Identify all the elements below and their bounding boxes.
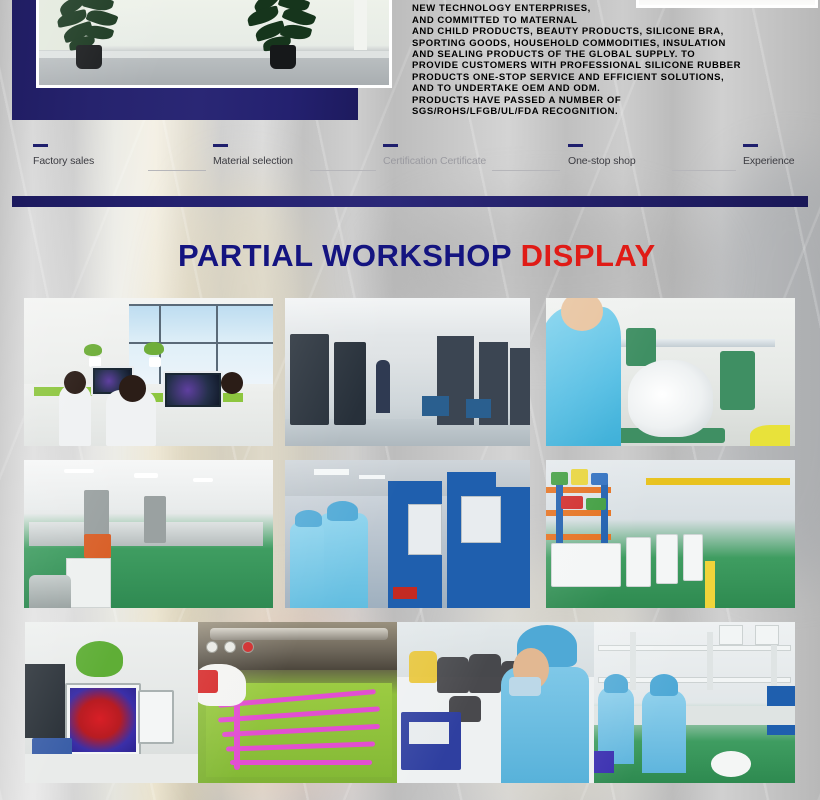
hero-description: SILICONE RUBBER PRODUCTS OF NEW TECHNOLO…: [412, 0, 812, 117]
feature-connector: [310, 170, 376, 171]
photo-press-operators[interactable]: [285, 460, 530, 608]
control-panel: [461, 496, 500, 543]
shelf-post: [707, 632, 713, 690]
cad-model-render: [70, 688, 136, 752]
feature-item-factory-sales[interactable]: Factory sales: [33, 144, 94, 167]
operator-cap: [327, 501, 359, 520]
product-bag: [409, 651, 437, 683]
hero-line: AND CHILD PRODUCTS, BEAUTY PRODUCTS, SIL…: [412, 26, 812, 37]
photo-silicone-mold[interactable]: [198, 622, 400, 783]
hero-line: PRODUCTS HAVE PASSED A NUMBER OF: [412, 95, 812, 106]
second-monitor: [138, 690, 174, 745]
hero-plant-left: [57, 0, 121, 69]
photo-canvas: [285, 460, 530, 608]
machine: [290, 334, 329, 426]
feature-dash-icon: [743, 144, 758, 147]
photo-canvas: [285, 298, 530, 446]
photo-storage-racks[interactable]: [546, 460, 795, 608]
window-mullion: [129, 304, 273, 306]
operator-suit: [319, 513, 368, 608]
desk-plant-pot: [149, 357, 161, 367]
hydraulic-pipe: [210, 628, 388, 639]
hero-line: SPORTING GOODS, HOUSEHOLD COMMODITIES, I…: [412, 38, 812, 49]
storage-bin: [561, 496, 583, 509]
worker-cap: [650, 674, 678, 697]
photo-canvas: [594, 622, 795, 783]
work-stool: [594, 751, 614, 774]
page-root: SILICONE RUBBER PRODUCTS OF NEW TECHNOLO…: [0, 0, 820, 800]
line-worker: [642, 690, 686, 774]
feature-item-material-selection[interactable]: Material selection: [213, 144, 293, 167]
operator-sleeve: [198, 670, 218, 693]
walking-worker: [376, 360, 391, 413]
equipment-cabinet: [683, 534, 703, 581]
signage-board: [719, 625, 743, 644]
hero-line: PROVIDE CUSTOMERS WITH PROFESSIONAL SILI…: [412, 60, 812, 71]
material-cart: [466, 399, 491, 418]
feature-dash-icon: [568, 144, 583, 147]
scrap-pile: [711, 751, 751, 777]
desk-plant: [76, 641, 123, 676]
storage-bin: [571, 469, 588, 485]
photo-canvas: [198, 622, 400, 783]
extruder-unit: [144, 496, 166, 543]
desk-plant-foliage: [144, 342, 164, 355]
hero-thumbnail-frame: [636, 0, 818, 8]
person-head: [119, 375, 146, 402]
control-panel: [408, 504, 442, 554]
photo-canvas: [546, 298, 795, 446]
feature-dash-icon: [213, 144, 228, 147]
page-title-primary: PARTIAL WORKSHOP: [178, 238, 512, 273]
photo-weighing-packing[interactable]: [397, 622, 597, 783]
hero-line: AND SEALING PRODUCTS OF THE GLOBAL SUPPL…: [412, 49, 812, 60]
feature-item-certification-certificate[interactable]: Certification Certificate: [383, 144, 486, 167]
monitor: [163, 371, 223, 409]
storage-bin: [591, 473, 608, 485]
red-pallet: [393, 587, 418, 599]
photo-cad-workstation[interactable]: [25, 622, 207, 783]
photo-extrusion-line[interactable]: [24, 460, 273, 608]
ceiling-lamp: [134, 473, 159, 477]
ceiling-lamp: [314, 469, 348, 475]
feature-label: Certification Certificate: [383, 155, 486, 167]
photo-canvas: [397, 622, 597, 783]
feature-strip: Factory sales Material selection Certifi…: [0, 144, 820, 190]
press-machine: [496, 487, 530, 608]
scale-display: [409, 722, 449, 745]
hero-line: AND TO UNDERTAKE OEM AND ODM.: [412, 83, 812, 94]
machine-mount: [720, 351, 755, 410]
photo-canvas: [546, 460, 795, 608]
feature-label: Material selection: [213, 155, 293, 167]
feature-dash-icon: [33, 144, 48, 147]
equipment-cabinet: [551, 543, 621, 587]
photo-office-design-team[interactable]: [24, 298, 273, 446]
photo-canvas: [25, 622, 207, 783]
page-title-accent: DISPLAY: [521, 238, 656, 273]
worker-mask: [509, 677, 541, 696]
photo-canvas: [24, 298, 273, 446]
photo-pipe-wrapping[interactable]: [546, 298, 795, 446]
storage-bin: [586, 498, 606, 510]
machine: [510, 348, 530, 425]
feature-dash-icon: [383, 144, 398, 147]
shelf-post: [630, 632, 636, 690]
feature-label: One-stop shop: [568, 155, 636, 167]
equipment-cabinet: [656, 534, 678, 584]
feature-item-experience[interactable]: Experience: [743, 144, 795, 167]
ceiling: [285, 298, 530, 336]
signage-board: [755, 625, 779, 644]
hero-line: AND COMMITTED TO MATERNAL: [412, 15, 812, 26]
operator-cap: [295, 510, 322, 526]
material-cart: [422, 396, 449, 417]
hero-photo-frame: [36, 0, 392, 88]
ceiling-lamp: [64, 469, 94, 473]
desk-plant-foliage: [84, 344, 102, 356]
feature-connector: [148, 170, 206, 171]
hero-section: SILICONE RUBBER PRODUCTS OF NEW TECHNOLO…: [0, 0, 820, 130]
product-bag: [469, 654, 501, 693]
operator-suit: [290, 522, 324, 608]
cad-monitor: [65, 683, 141, 757]
ceiling-lamp: [193, 478, 213, 482]
overhead-shelf: [598, 645, 791, 651]
page-title: PARTIAL WORKSHOP DISPLAY: [178, 238, 656, 274]
machine-mount: [626, 328, 656, 366]
photo-canvas: [24, 460, 273, 608]
orange-guard: [84, 534, 111, 558]
hero-plant-right: [247, 0, 319, 69]
photo-machine-corridor[interactable]: [285, 298, 530, 446]
cubicle-partition: [25, 664, 65, 738]
hero-line: PRODUCTS ONE-STOP SERVICE AND EFFICIENT …: [412, 72, 812, 83]
yellow-bin: [750, 425, 790, 446]
feature-label: Factory sales: [33, 155, 94, 167]
hero-photo: [39, 0, 389, 85]
product-bag: [437, 657, 469, 692]
ceiling-lamp: [359, 475, 386, 479]
desk-surface: [25, 754, 207, 783]
control-cabinet: [66, 558, 111, 608]
silicone-strand: [230, 760, 371, 765]
section-divider-bar: [12, 196, 808, 207]
feature-item-one-stop-shop[interactable]: One-stop shop: [568, 144, 636, 167]
storage-bin: [551, 472, 568, 485]
overhead-crane-beam: [646, 478, 790, 485]
equipment-cabinet: [626, 537, 651, 587]
photo-assembly-line[interactable]: [594, 622, 795, 783]
white-pipe-elbow: [628, 360, 713, 437]
hero-thumbnail-photo: [639, 0, 815, 5]
floor-safety-line: [705, 561, 715, 608]
feature-connector: [672, 170, 736, 171]
machine: [334, 342, 366, 425]
feature-connector: [492, 170, 560, 171]
feature-label: Experience: [743, 155, 795, 167]
worker-cap: [604, 674, 628, 693]
material-drum: [29, 575, 71, 608]
hero-line: SGS/ROHS/LFGB/UL/FDA RECOGNITION.: [412, 106, 812, 117]
